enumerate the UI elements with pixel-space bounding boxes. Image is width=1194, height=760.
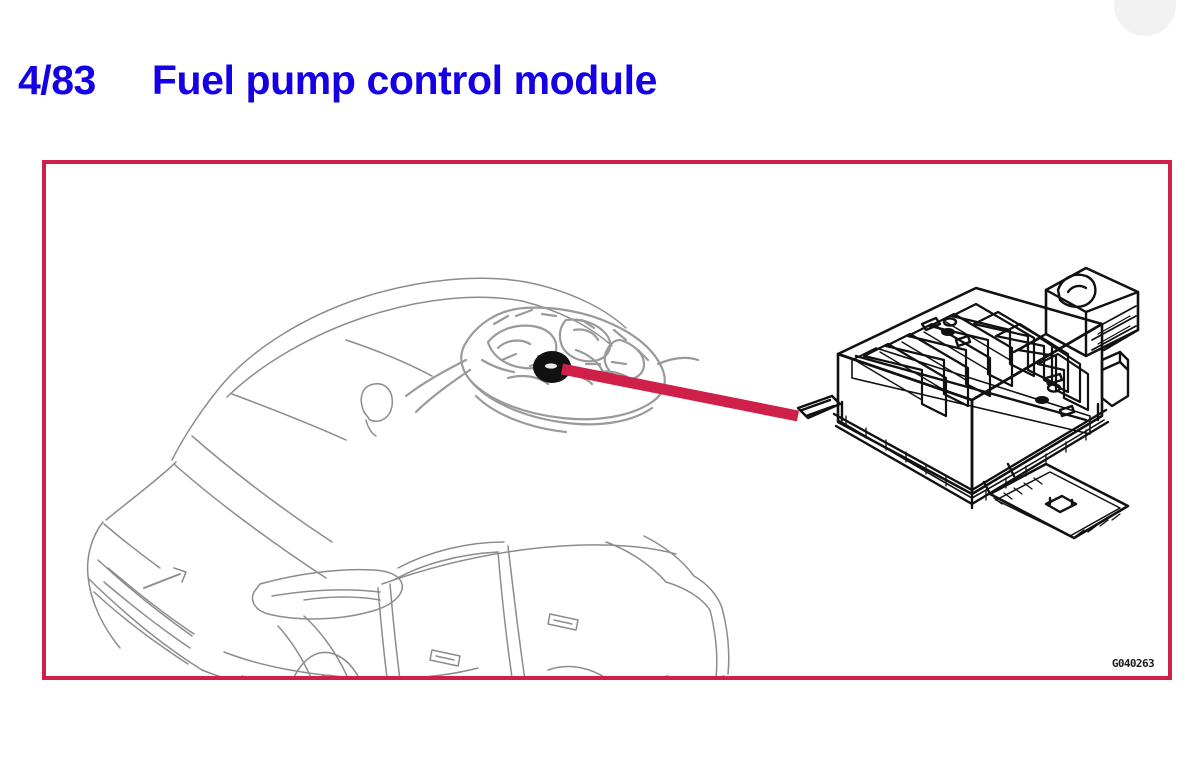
figure-id-label: G040263 — [1112, 657, 1154, 670]
fuel-pump-control-module-drawing — [798, 268, 1138, 538]
vehicle-line-art — [88, 278, 729, 676]
figure-frame: G040263 — [42, 160, 1172, 680]
figure-title-row: 4/83 Fuel pump control module — [18, 57, 657, 104]
callout-leader-line — [562, 369, 798, 416]
page-title: Fuel pump control module — [152, 57, 657, 104]
figure-number: 4/83 — [18, 57, 96, 104]
module-connector — [1014, 268, 1138, 356]
figure-illustration — [46, 164, 1168, 676]
module-right-boss — [1102, 352, 1128, 406]
page-corner-artifact — [1114, 0, 1176, 36]
